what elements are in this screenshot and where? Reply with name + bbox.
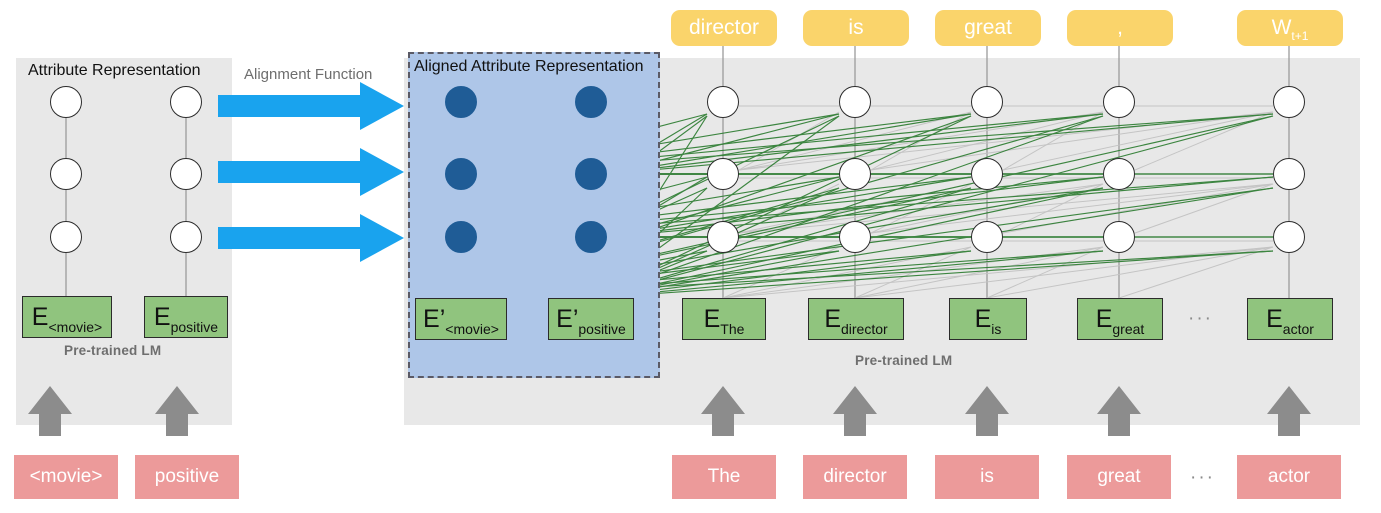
node-aligned-c0-r1 [445, 158, 477, 190]
embedding-right-is: Eis [949, 298, 1027, 340]
node-left-c1-r2 [170, 221, 202, 253]
embedding-base: E [975, 307, 992, 332]
embedding-subscript: director [841, 322, 888, 339]
node-right-c3-r1 [1103, 158, 1135, 190]
embedding-aligned-movie: E’<movie> [415, 298, 507, 340]
embedding-right-great: Egreat [1077, 298, 1163, 340]
node-right-c4-r2 [1273, 221, 1305, 253]
node-left-c0-r1 [50, 158, 82, 190]
node-right-c4-r0 [1273, 86, 1305, 118]
alignment-arrows [218, 82, 404, 262]
node-right-c2-r0 [971, 86, 1003, 118]
embedding-right-the: EThe [682, 298, 766, 340]
input-token-positive[interactable]: positive [135, 455, 239, 499]
output-token-base: , [1117, 16, 1123, 40]
node-right-c4-r1 [1273, 158, 1305, 190]
output-token-base: W [1272, 16, 1292, 40]
alignment-function-label: Alignment Function [244, 66, 372, 83]
embedding-subscript: is [991, 322, 1001, 339]
embedding-base: E’ [556, 307, 578, 332]
input-row-ellipsis: ··· [1190, 467, 1215, 489]
input-token-the[interactable]: The [672, 455, 776, 499]
node-right-c3-r0 [1103, 86, 1135, 118]
output-token-base: director [689, 16, 759, 40]
node-left-c1-r1 [170, 158, 202, 190]
node-right-c1-r2 [839, 221, 871, 253]
node-left-c1-r0 [170, 86, 202, 118]
node-aligned-c1-r1 [575, 158, 607, 190]
output-token-comma[interactable]: , [1067, 10, 1173, 46]
output-token-director[interactable]: director [671, 10, 777, 46]
embedding-right-director: Edirector [808, 298, 904, 340]
embedding-base: E [1266, 307, 1283, 332]
embedding-subscript: The [720, 322, 744, 339]
embedding-subscript: actor [1283, 322, 1314, 339]
aligned-attribute-representation-title: Aligned Attribute Representation [414, 58, 643, 76]
node-right-c2-r1 [971, 158, 1003, 190]
embedding-base: E [1096, 307, 1113, 332]
output-token-base: is [848, 16, 863, 40]
embedding-left-movie: E<movie> [22, 296, 112, 338]
output-token-is[interactable]: is [803, 10, 909, 46]
embedding-left-positive: Epositive [144, 296, 228, 338]
embedding-row-ellipsis: ··· [1188, 308, 1213, 330]
output-token-great[interactable]: great [935, 10, 1041, 46]
embedding-base: E [154, 305, 171, 330]
embedding-subscript: great [1112, 322, 1144, 339]
embedding-subscript: positive [171, 320, 218, 337]
embedding-subscript: <movie> [445, 322, 499, 339]
pretrained-lm-label-right: Pre-trained LM [855, 353, 952, 368]
node-right-c3-r2 [1103, 221, 1135, 253]
embedding-subscript: <movie> [48, 320, 102, 337]
node-aligned-c1-r2 [575, 221, 607, 253]
embedding-base: E [32, 305, 49, 330]
embedding-base: E [824, 307, 841, 332]
embedding-base: E’ [423, 307, 445, 332]
node-right-c2-r2 [971, 221, 1003, 253]
embedding-right-actor: Eactor [1247, 298, 1333, 340]
node-aligned-c0-r2 [445, 221, 477, 253]
node-right-c1-r1 [839, 158, 871, 190]
embedding-base: E [704, 307, 721, 332]
node-right-c0-r0 [707, 86, 739, 118]
attribute-representation-title: Attribute Representation [28, 62, 201, 80]
input-token-director[interactable]: director [803, 455, 907, 499]
output-token-wt1[interactable]: Wt+1 [1237, 10, 1343, 46]
output-token-subscript: t+1 [1291, 29, 1308, 46]
embedding-subscript: positive [578, 322, 625, 339]
node-right-c0-r1 [707, 158, 739, 190]
node-left-c0-r0 [50, 86, 82, 118]
node-left-c0-r2 [50, 221, 82, 253]
input-token-is[interactable]: is [935, 455, 1039, 499]
embedding-aligned-positive: E’positive [548, 298, 634, 340]
pretrained-lm-label-left: Pre-trained LM [64, 343, 161, 358]
node-aligned-c0-r0 [445, 86, 477, 118]
node-right-c0-r2 [707, 221, 739, 253]
node-aligned-c1-r0 [575, 86, 607, 118]
node-right-c1-r0 [839, 86, 871, 118]
input-token-movie[interactable]: <movie> [14, 455, 118, 499]
input-token-great[interactable]: great [1067, 455, 1171, 499]
output-token-base: great [964, 16, 1012, 40]
input-token-actor[interactable]: actor [1237, 455, 1341, 499]
diagram-canvas: Attribute Representation Aligned Attribu… [0, 0, 1381, 513]
